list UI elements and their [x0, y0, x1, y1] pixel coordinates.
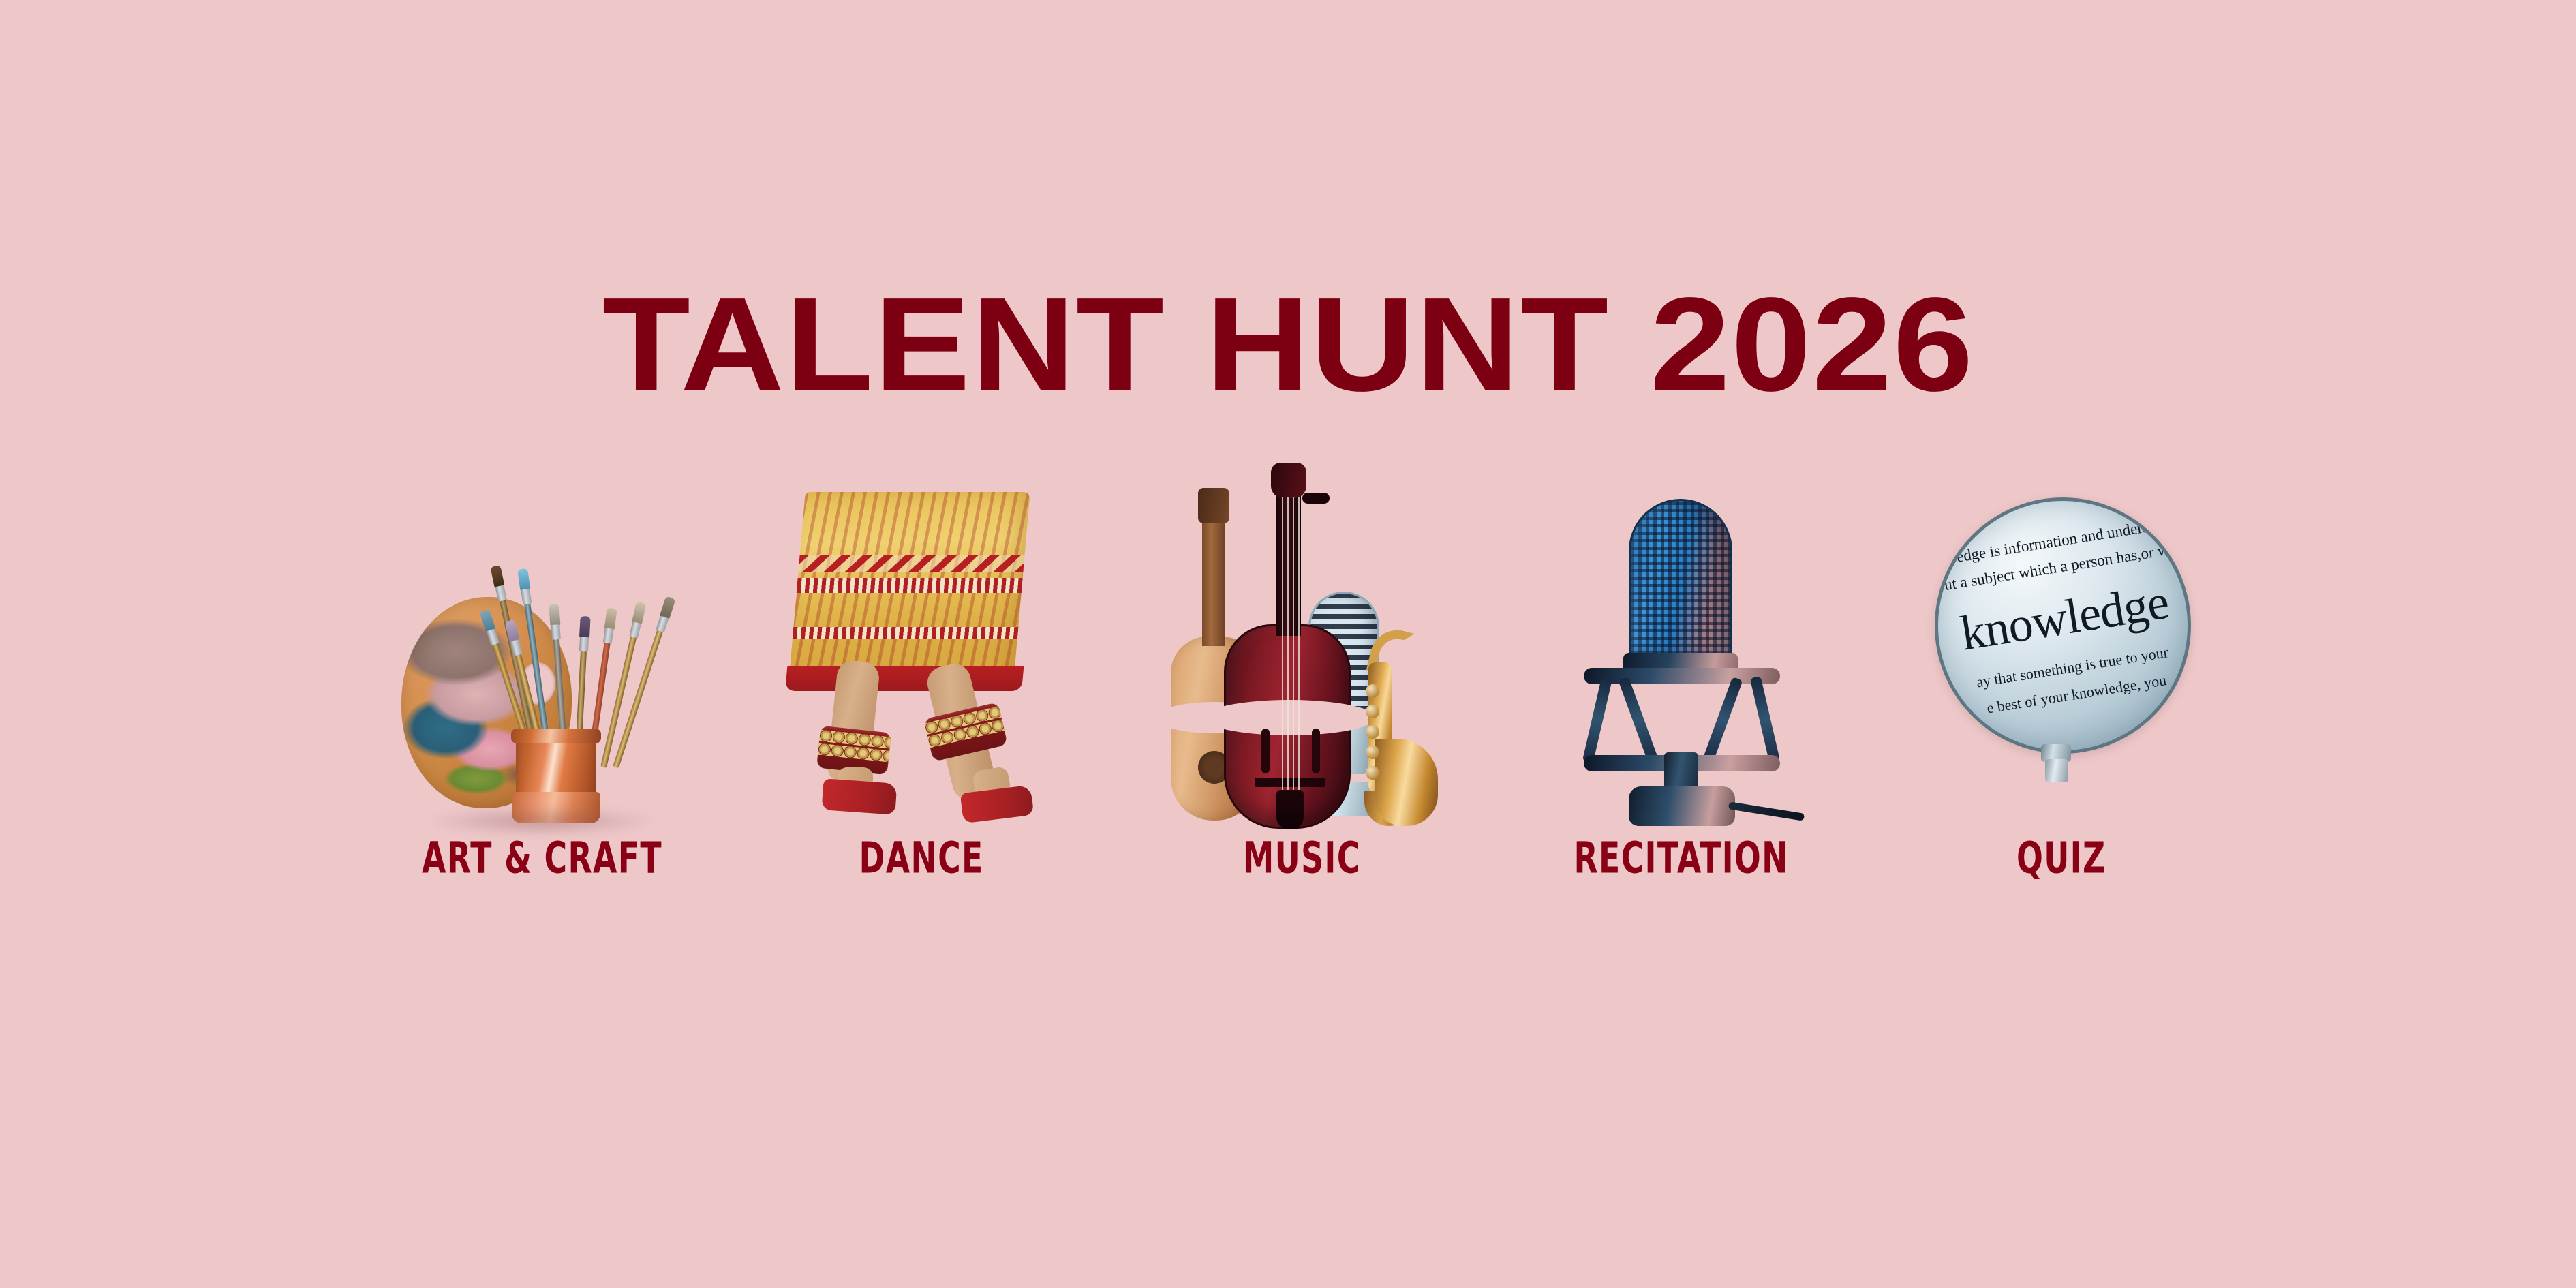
shock-mount-arm: [1702, 677, 1743, 763]
category-label-quiz: QUIZ: [2017, 837, 2106, 880]
brush-ferrule: [521, 589, 532, 605]
saxophone-key: [1366, 746, 1379, 759]
music-artwork-wrap: [1141, 478, 1462, 833]
skirt-zigzag-border: [798, 555, 1024, 572]
skirt-hem: [785, 666, 1024, 691]
magnifier-handle: [2045, 759, 2068, 782]
saxophone-key: [1366, 725, 1379, 739]
category-label-music: MUSIC: [1243, 837, 1361, 880]
saxophone-key: [1366, 684, 1379, 698]
jar-lip: [511, 729, 601, 743]
violin-tuning-peg: [1302, 493, 1330, 504]
violin-string: [1293, 497, 1294, 790]
saxophone-key: [1366, 705, 1379, 718]
talent-hunt-banner: TALENT HUNT 2026: [0, 0, 2576, 1288]
guitar-neck: [1202, 517, 1225, 646]
magnifier-lens: edge is information and unders ut a subj…: [1935, 497, 2191, 754]
studio-microphone: [1580, 499, 1784, 826]
category-item-music[interactable]: MUSIC: [1141, 450, 1462, 872]
paint-palette-with-brushes-in-terracotta-jar-icon: [399, 492, 685, 833]
shock-mount-arm: [1618, 677, 1658, 763]
category-label-dance: DANCE: [859, 837, 984, 880]
mic-cable: [1728, 801, 1804, 821]
brush-bristles: [549, 604, 560, 626]
brush-ferrule: [656, 615, 669, 632]
dancer-costume-skirt: [788, 492, 1030, 690]
violin-f-hole: [1261, 729, 1270, 773]
violin-string: [1298, 497, 1300, 790]
art-and-craft-artwork-wrap: [382, 478, 702, 833]
violin-neck: [1276, 491, 1301, 636]
category-item-quiz[interactable]: edge is information and unders ut a subj…: [1901, 450, 2222, 872]
brush-ferrule: [579, 637, 589, 652]
page-title: TALENT HUNT 2026: [0, 278, 2576, 412]
studio-condenser-microphone-on-shock-mount-icon: [1539, 492, 1825, 833]
mic-capsule-grille: [1629, 499, 1732, 657]
saxophone-key: [1366, 766, 1379, 780]
shock-mount-arm: [1749, 676, 1779, 763]
brush-ferrule: [603, 628, 614, 644]
violin-bridge: [1255, 778, 1325, 787]
dancer-foot-with-alta: [821, 778, 897, 814]
saxophone-icon: [1348, 622, 1437, 826]
classical-indian-dancer-feet-with-ghungroo-bells-icon: [779, 492, 1065, 833]
violin-f-hole: [1312, 729, 1320, 773]
magnifying-glass-over-knowledge-definition-icon: edge is information and unders ut a subj…: [1918, 492, 2205, 833]
skirt-band: [796, 578, 1022, 593]
recitation-artwork-wrap: [1522, 478, 1842, 833]
mic-stand-base: [1629, 786, 1735, 826]
violin-string: [1287, 497, 1289, 790]
quiz-artwork-wrap: edge is information and unders ut a subj…: [1901, 478, 2222, 833]
category-label-recitation: RECITATION: [1574, 837, 1789, 880]
category-row: ART & CRAFT: [382, 450, 2222, 872]
violin-scroll: [1271, 463, 1306, 498]
category-label-art-and-craft: ART & CRAFT: [422, 837, 662, 880]
saxophone-bell: [1375, 739, 1438, 826]
brush-bristles: [517, 568, 530, 592]
magnified-dictionary-text: edge is information and unders ut a subj…: [1935, 497, 2191, 754]
category-item-dance[interactable]: DANCE: [762, 450, 1082, 872]
category-item-recitation[interactable]: RECITATION: [1522, 450, 1842, 872]
violin-tailpiece: [1276, 790, 1304, 829]
skirt-band: [792, 627, 1018, 639]
brush-bristles: [579, 616, 591, 639]
category-item-art-and-craft[interactable]: ART & CRAFT: [382, 450, 702, 872]
drop-shadow: [429, 807, 654, 835]
violin-string: [1282, 497, 1283, 790]
violin-icon: [1224, 624, 1351, 829]
brush-ferrule: [629, 622, 641, 638]
guitar-violin-vintage-microphone-saxophone-icon: [1159, 492, 1445, 833]
brush-ferrule: [551, 624, 561, 640]
magnifying-glass: edge is information and unders ut a subj…: [1935, 497, 2191, 782]
dance-artwork-wrap: [762, 478, 1082, 833]
guitar-headstock: [1198, 488, 1229, 523]
shock-mount-arm: [1582, 676, 1612, 763]
brush-bristles: [604, 607, 617, 630]
